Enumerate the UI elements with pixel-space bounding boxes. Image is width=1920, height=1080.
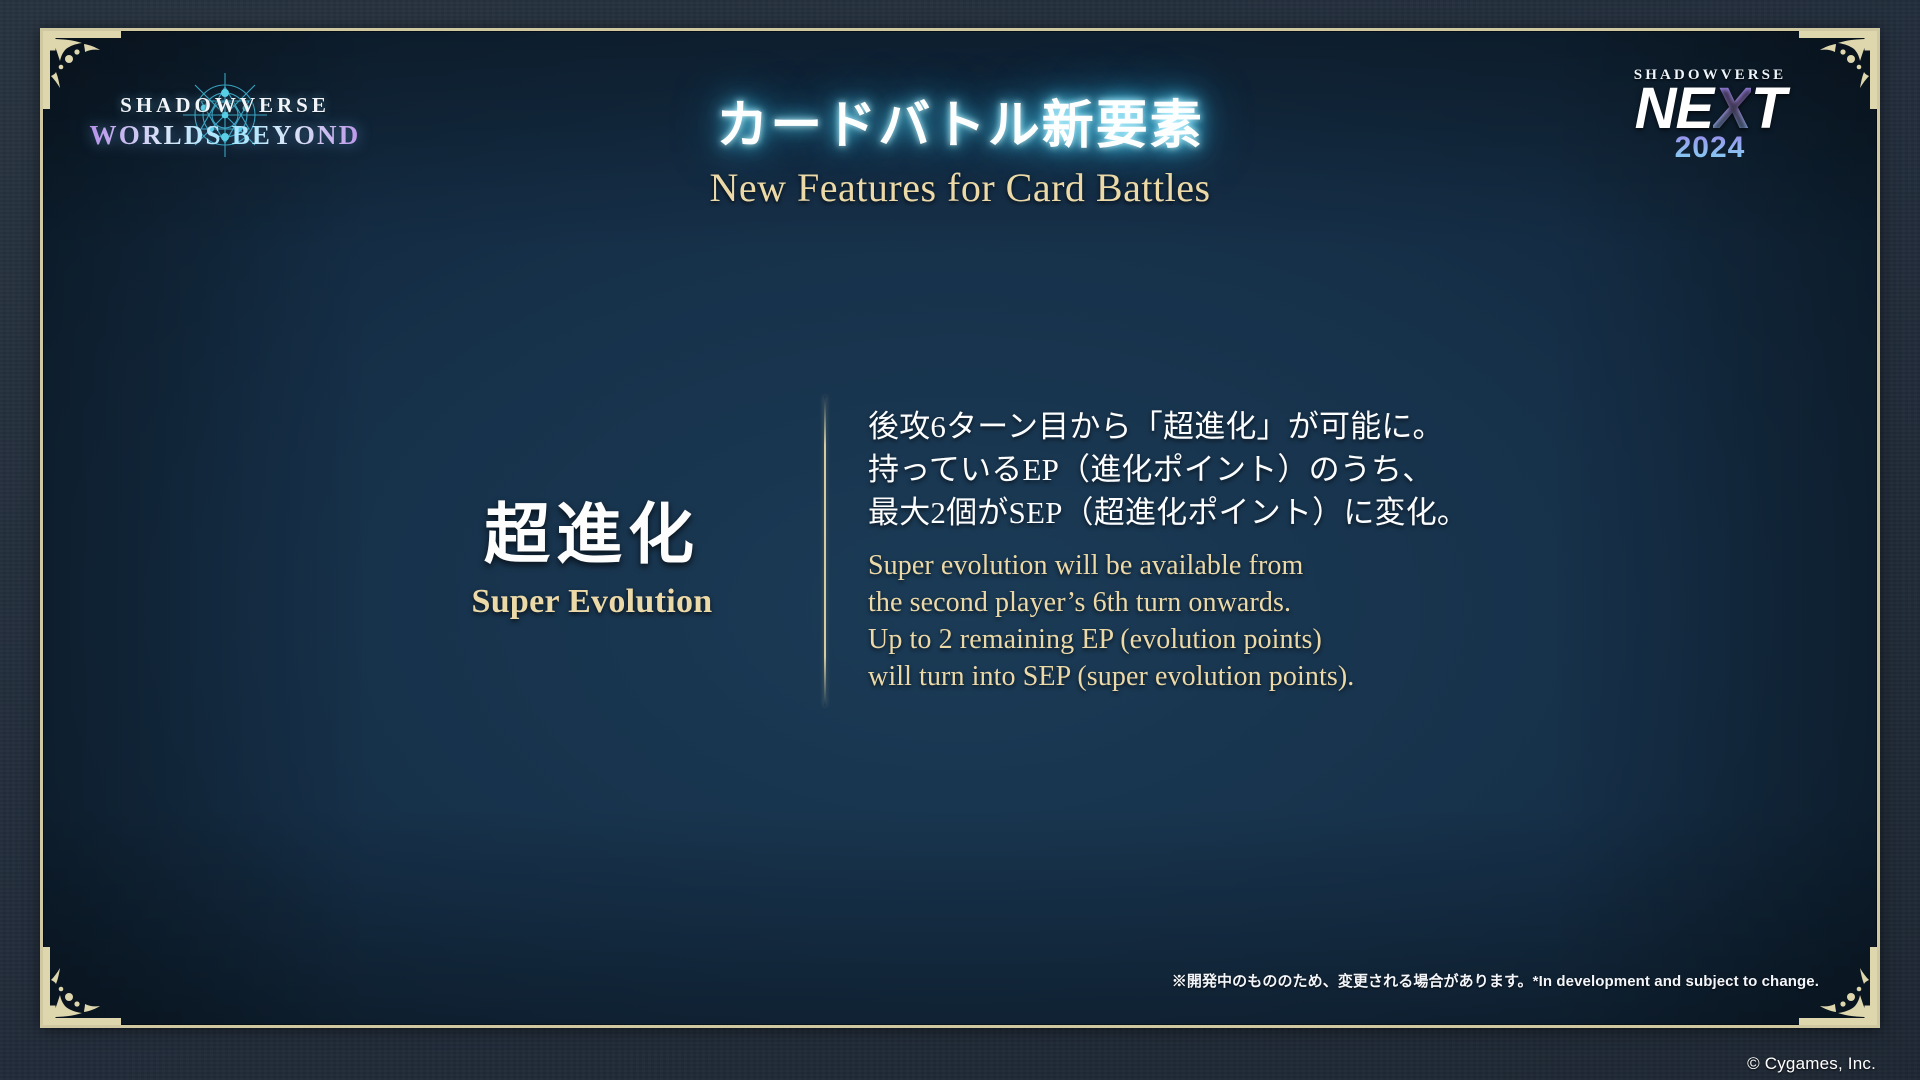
brand-logo-line2: WORLDS BEYOND xyxy=(85,120,365,151)
description-english-line: the second player’s 6th turn onwards. xyxy=(868,584,1526,621)
brand-logo-line1: SHADOWVERSE xyxy=(85,93,365,118)
description-english-line: Up to 2 remaining EP (evolution points) xyxy=(868,621,1526,658)
ornament-corner-top-left-icon xyxy=(43,31,121,109)
slide-title-english: New Features for Card Battles xyxy=(43,164,1877,211)
feature-name-block: 超進化 Super Evolution xyxy=(394,481,824,621)
description-japanese-line: 最大2個がSEP（超進化ポイント）に変化。 xyxy=(868,492,1526,535)
event-logo-year: 2024 xyxy=(1595,131,1825,165)
copyright-text: © Cygames, Inc. xyxy=(1747,1054,1876,1074)
description-english-line: Super evolution will be available from xyxy=(868,547,1526,584)
slide-content: 超進化 Super Evolution 後攻6ターン目から「超進化」が可能に。 … xyxy=(43,331,1877,771)
presentation-slide: SHADOWVERSE WORLDS BEYOND SHADOWVERSE NE… xyxy=(0,0,1920,1080)
shadowverse-next-2024-logo: SHADOWVERSE NEXT 2024 xyxy=(1595,67,1825,165)
event-logo-word-post: T xyxy=(1751,76,1785,141)
ornament-corner-bottom-left-icon xyxy=(43,947,121,1025)
feature-name-japanese: 超進化 xyxy=(394,481,790,577)
description-english-line: will turn into SEP (super evolution poin… xyxy=(868,658,1526,695)
description-english: Super evolution will be available from t… xyxy=(868,547,1526,696)
description-japanese-line: 後攻6ターン目から「超進化」が可能に。 xyxy=(868,406,1526,449)
feature-name-english: Super Evolution xyxy=(394,583,790,621)
ornament-corner-top-right-icon xyxy=(1799,31,1877,109)
shadowverse-worlds-beyond-logo: SHADOWVERSE WORLDS BEYOND xyxy=(85,69,365,159)
ornament-corner-bottom-right-icon xyxy=(1799,947,1877,1025)
description-japanese-line: 持っているEP（進化ポイント）のうち、 xyxy=(868,449,1526,492)
slide-frame: SHADOWVERSE WORLDS BEYOND SHADOWVERSE NE… xyxy=(40,28,1880,1028)
description-japanese: 後攻6ターン目から「超進化」が可能に。 持っているEP（進化ポイント）のうち、 … xyxy=(868,406,1526,534)
feature-description-block: 後攻6ターン目から「超進化」が可能に。 持っているEP（進化ポイント）のうち、 … xyxy=(826,406,1526,695)
event-logo-word: NEXT xyxy=(1595,82,1825,135)
disclaimer-text: ※開発中のもののため、変更される場合があります。*In development … xyxy=(1172,970,1819,991)
